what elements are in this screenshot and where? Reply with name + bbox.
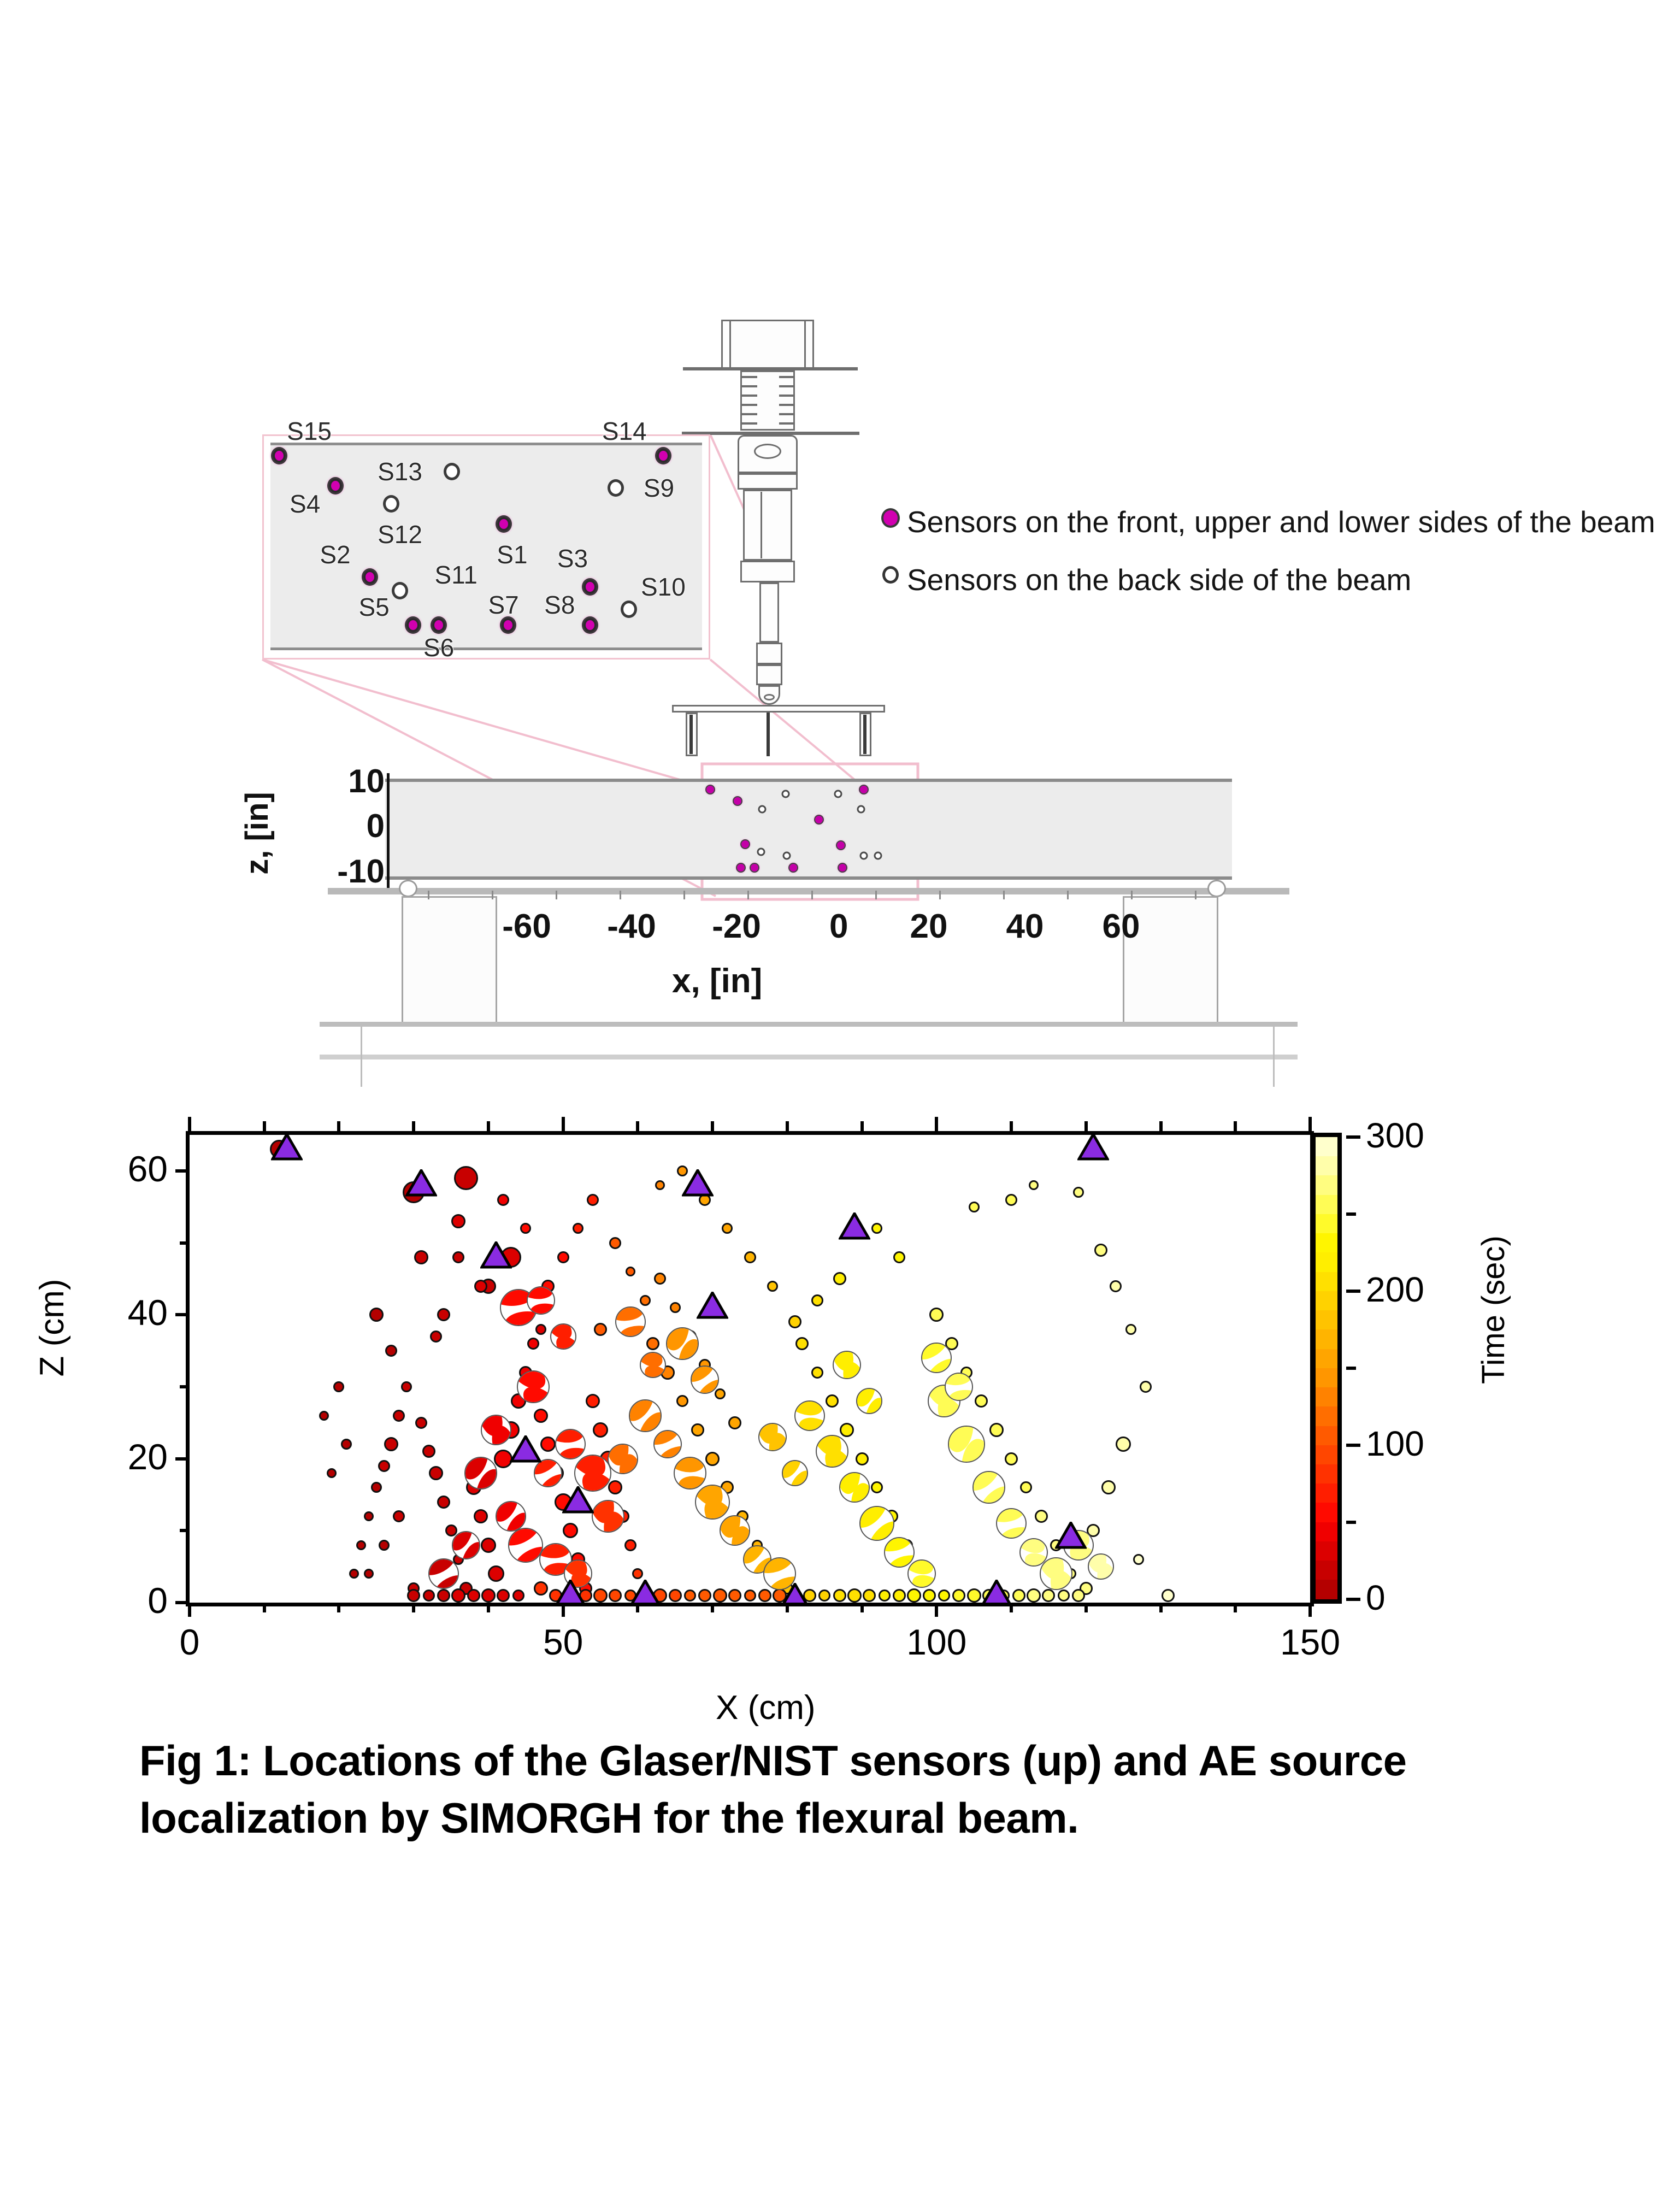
colorbar-band [1316, 1406, 1337, 1426]
beam-y-axis: 10 0 -10 [306, 773, 388, 888]
sensor-label-s7: S7 [488, 590, 518, 620]
beam-x-tick-60: 60 [1103, 907, 1140, 946]
colorbar-band [1316, 1195, 1337, 1214]
beam-sensor-mark [705, 785, 715, 794]
sensor-label-s13: S13 [378, 457, 422, 486]
sensor-marker-s5 [405, 616, 421, 634]
colorbar-band [1316, 1329, 1337, 1349]
colorbar-band [1316, 1426, 1337, 1445]
beam-sensor-mark [736, 863, 746, 873]
colorbar-major-tick [1346, 1598, 1360, 1601]
beam-sensor-mark [836, 840, 846, 850]
colorbar-band [1316, 1233, 1337, 1252]
beam-sensor-mark [733, 796, 742, 806]
colorbar-label-200: 200 [1366, 1269, 1424, 1310]
colorbar-minor-tick [1346, 1367, 1356, 1370]
sensor-label-s15: S15 [287, 416, 332, 446]
beam-sensor-mark [782, 790, 790, 798]
colorbar-band [1316, 1252, 1337, 1271]
beam-x-tick-20: 20 [910, 907, 948, 946]
colorbar-band [1316, 1541, 1337, 1561]
beam-sensor-mark [750, 863, 759, 873]
colorbar-major-tick [1346, 1444, 1360, 1447]
beam-sensor-mark [788, 863, 798, 873]
colorbar-label-0: 0 [1366, 1577, 1386, 1618]
colorbar-tick-labels: 0100200300 [1366, 1129, 1486, 1610]
colorbar-band [1316, 1349, 1337, 1368]
beam-sensor-mark [838, 863, 847, 873]
beam-x-axis-title: x, [in] [672, 962, 762, 1000]
colorbar-band [1316, 1368, 1337, 1387]
colorbar-label-100: 100 [1366, 1423, 1424, 1464]
colorbar-gradient [1311, 1133, 1342, 1604]
lab-floor-lower [320, 1055, 1298, 1059]
beam-sensor-mark [782, 851, 791, 859]
colorbar-title: Time (sec) [1475, 1235, 1512, 1384]
sensor-label-s14: S14 [602, 416, 647, 446]
x-tick-label-150: 150 [1280, 1621, 1340, 1663]
beam-x-tick--60: -60 [502, 907, 551, 946]
sensor-legend: Sensors on the front, upper and lower si… [874, 503, 1661, 618]
sensor-marker-s4 [327, 477, 344, 494]
colorbar-minor-tick [1346, 1521, 1356, 1524]
lab-floor-upper [320, 1022, 1298, 1027]
beam-x-tick--20: -20 [712, 907, 761, 946]
sensor-label-s4: S4 [290, 489, 320, 519]
colorbar: 0100200300 Time (sec) [1311, 1129, 1530, 1610]
x-tick-label-100: 100 [906, 1621, 966, 1663]
beam-sensor-mark [874, 851, 882, 859]
beam-elevation [385, 779, 1232, 880]
open-circle-icon [874, 561, 907, 584]
colorbar-band [1316, 1291, 1337, 1310]
sensor-marker-s2 [362, 568, 378, 586]
colorbar-band [1316, 1483, 1337, 1503]
sensor-marker-s10 [621, 601, 637, 618]
sensor-marker-s15 [271, 447, 287, 464]
sensor-label-s2: S2 [320, 540, 350, 569]
colorbar-major-tick [1346, 1135, 1360, 1139]
colorbar-band [1316, 1310, 1337, 1329]
beam-sensor-mark [859, 851, 868, 859]
colorbar-band [1316, 1214, 1337, 1233]
beam-y-tick-0: 0 [367, 807, 385, 845]
sensor-label-s1: S1 [497, 540, 527, 569]
legend-item-front-sensors: Sensors on the front, upper and lower si… [874, 503, 1661, 542]
sensor-marker-s14 [655, 447, 671, 464]
sensor-callout-box: S15S4S13S12S14S9S1S2S11S3S10S5S6S7S8 [270, 443, 702, 650]
sensor-label-s6: S6 [423, 633, 454, 662]
legend-item-back-sensors: Sensors on the back side of the beam [874, 561, 1661, 600]
sensor-label-s9: S9 [644, 473, 674, 503]
colorbar-label-300: 300 [1366, 1115, 1424, 1156]
sensor-marker-s13 [444, 463, 460, 480]
sensor-label-s11: S11 [434, 560, 477, 590]
sensor-marker-s11 [392, 582, 408, 599]
colorbar-band [1316, 1580, 1337, 1599]
colorbar-band [1316, 1175, 1337, 1194]
colorbar-band [1316, 1272, 1337, 1291]
colorbar-band [1316, 1503, 1337, 1522]
beam-sensor-mark [814, 815, 824, 825]
sensor-marker-s8 [582, 616, 598, 634]
colorbar-major-tick [1346, 1290, 1360, 1293]
beam-y-tick-neg10: -10 [337, 852, 385, 890]
legend-label-back: Sensors on the back side of the beam [907, 561, 1411, 600]
sensor-label-s8: S8 [544, 590, 575, 620]
sensor-label-s10: S10 [641, 572, 686, 602]
beam-y-axis-title: z, [in] [205, 779, 309, 888]
colorbar-band [1316, 1156, 1337, 1175]
floor-edge-right [1273, 1027, 1275, 1087]
legend-label-front: Sensors on the front, upper and lower si… [907, 503, 1655, 542]
sensor-marker-s6 [431, 616, 447, 634]
ae-localization-plot: 0204060 Z (cm) 050100150 X (cm) 01002003… [0, 1098, 1680, 1803]
beam-x-tick-40: 40 [1006, 907, 1044, 946]
sensor-marker-s12 [383, 495, 399, 513]
figure-caption: Fig 1: Locations of the Glaser/NIST sens… [139, 1732, 1505, 1846]
colorbar-band [1316, 1464, 1337, 1483]
x-axis-title: X (cm) [716, 1688, 816, 1727]
colorbar-minor-tick [1346, 1212, 1356, 1216]
beam-sensor-mark [757, 848, 765, 856]
sensor-layout-panel: 10 0 -10 z, [in] -60 -40 -20 0 20 40 60 … [0, 0, 1680, 1098]
sensor-label-s12: S12 [378, 520, 422, 549]
sensor-marker-s9 [608, 479, 624, 497]
floor-edge-left [361, 1027, 362, 1087]
colorbar-band [1316, 1561, 1337, 1580]
beam-sensor-mark [859, 785, 869, 794]
beam-y-tick-10: 10 [348, 762, 385, 800]
colorbar-band [1316, 1445, 1337, 1464]
colorbar-ticks [1346, 1129, 1363, 1610]
beam-sensor-mark [758, 805, 766, 814]
beam-sensor-mark [740, 839, 750, 849]
x-tick-label-0: 0 [180, 1621, 200, 1663]
beam-x-axis-ticks [385, 891, 1237, 899]
colorbar-band [1316, 1137, 1337, 1156]
beam-x-tick-0: 0 [829, 907, 848, 946]
beam-x-tick--40: -40 [607, 907, 656, 946]
colorbar-band [1316, 1522, 1337, 1541]
beam-sensor-mark [834, 790, 842, 798]
beam-x-tick-labels: -60 -40 -20 0 20 40 60 [382, 907, 1257, 951]
sensor-label-s5: S5 [358, 592, 389, 622]
filled-circle-icon [874, 503, 907, 528]
beam-sensor-mark [857, 805, 865, 814]
sensor-label-s3: S3 [557, 544, 588, 573]
sensor-marker-s1 [496, 515, 512, 533]
colorbar-band [1316, 1387, 1337, 1406]
x-tick-label-50: 50 [543, 1621, 583, 1663]
sensor-marker-s3 [582, 578, 598, 596]
